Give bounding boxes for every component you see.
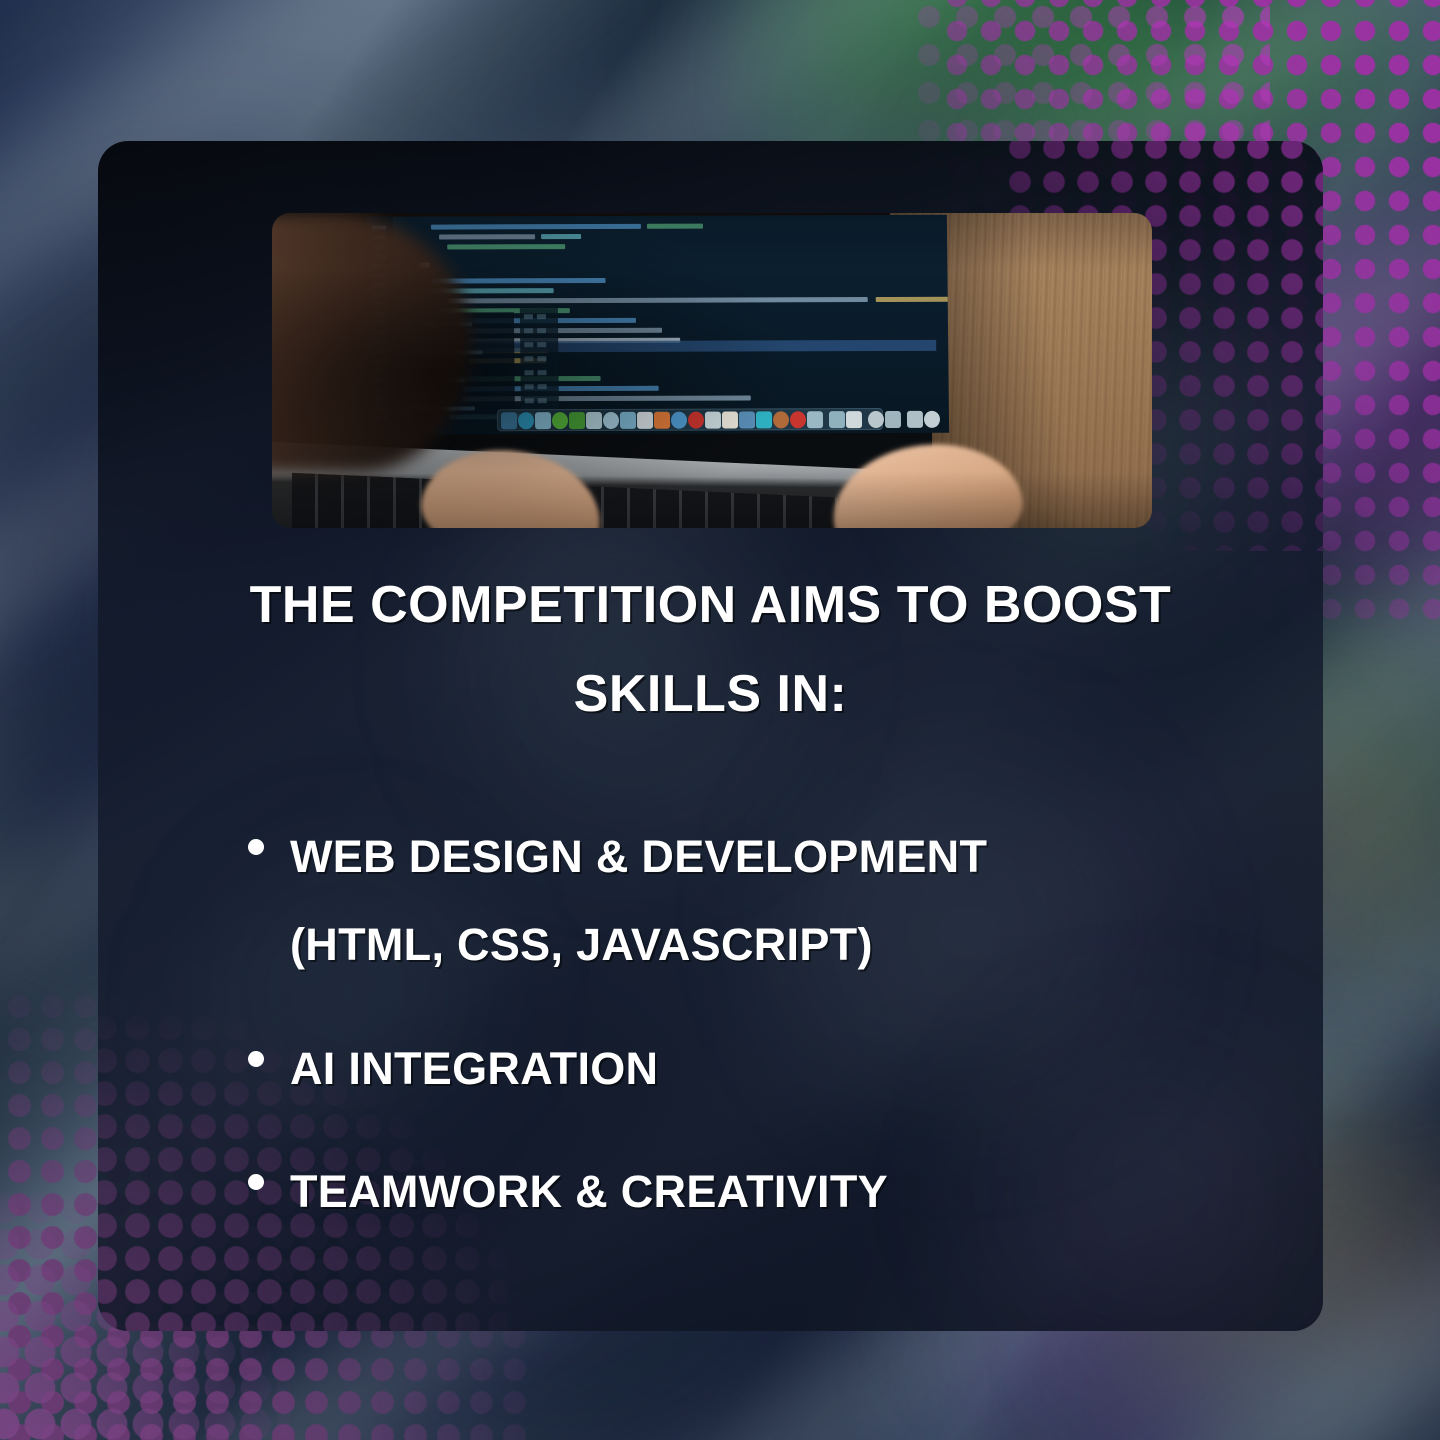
dock-icon[interactable] <box>705 411 721 428</box>
list-item-label: AI INTEGRATION <box>290 1025 658 1113</box>
dock-icon[interactable] <box>569 412 585 429</box>
content-card: THE COMPETITION AIMS TO BOOST SKILLS IN:… <box>98 141 1323 1331</box>
dock-icon[interactable] <box>654 411 670 428</box>
editor-code-line <box>448 297 868 303</box>
list-item-line-1: WEB DESIGN & DEVELOPMENT <box>290 831 987 882</box>
list-item-label: WEB DESIGN & DEVELOPMENT (HTML, CSS, JAV… <box>290 813 987 989</box>
dock-icon[interactable] <box>907 410 923 427</box>
laptop-keyboard <box>292 473 912 528</box>
dock-icon[interactable] <box>586 411 602 428</box>
macos-dock[interactable] <box>497 408 883 431</box>
dock-icon[interactable] <box>552 412 568 429</box>
dock-icon[interactable] <box>739 411 755 428</box>
editor-code-line <box>431 224 641 230</box>
editor-code-line <box>876 297 949 302</box>
dock-icon[interactable] <box>603 411 619 428</box>
editor-code-line <box>447 244 565 249</box>
editor-code-line <box>432 278 606 284</box>
bullet-dot-icon <box>248 1174 264 1190</box>
editor-code-line <box>541 234 581 239</box>
list-item-line-2: (HTML, CSS, JAVASCRIPT) <box>290 901 987 989</box>
dock-icon[interactable] <box>924 410 940 427</box>
list-item: TEAMWORK & CREATIVITY <box>248 1148 1228 1236</box>
laptop-photo <box>272 213 1152 528</box>
dock-icon[interactable] <box>671 411 687 428</box>
dock-icon[interactable] <box>807 411 823 428</box>
dock-icon[interactable] <box>518 412 534 429</box>
list-item: WEB DESIGN & DEVELOPMENT (HTML, CSS, JAV… <box>248 813 1228 989</box>
dock-icon[interactable] <box>773 411 789 428</box>
dock-icon[interactable] <box>501 412 517 429</box>
dock-icon[interactable] <box>885 410 901 427</box>
headline-line-2: SKILLS IN: <box>98 650 1323 739</box>
poster-canvas: THE COMPETITION AIMS TO BOOST SKILLS IN:… <box>0 0 1440 1440</box>
dock-icon[interactable] <box>620 411 636 428</box>
dock-icon[interactable] <box>829 411 845 428</box>
dock-icon[interactable] <box>688 411 704 428</box>
dock-icon[interactable] <box>722 411 738 428</box>
editor-line-numbers <box>367 215 947 217</box>
dock-icon[interactable] <box>868 410 884 427</box>
bullet-dot-icon <box>248 839 264 855</box>
dock-icon[interactable] <box>756 411 772 428</box>
page-title: THE COMPETITION AIMS TO BOOST SKILLS IN: <box>98 561 1323 740</box>
headline-line-1: THE COMPETITION AIMS TO BOOST <box>98 561 1323 650</box>
editor-minimap <box>520 308 559 424</box>
list-item-line-1: TEAMWORK & CREATIVITY <box>290 1166 888 1217</box>
editor-code-line <box>439 234 535 239</box>
list-item-line-1: AI INTEGRATION <box>290 1043 658 1094</box>
editor-code-content <box>367 215 947 217</box>
dock-icon[interactable] <box>637 411 653 428</box>
dock-icon[interactable] <box>535 412 551 429</box>
dock-icon[interactable] <box>790 411 806 428</box>
editor-code-line <box>647 224 703 229</box>
list-item: AI INTEGRATION <box>248 1025 1228 1113</box>
list-item-label: TEAMWORK & CREATIVITY <box>290 1148 888 1236</box>
dock-icon[interactable] <box>846 411 862 428</box>
skills-list: WEB DESIGN & DEVELOPMENT (HTML, CSS, JAV… <box>248 813 1228 1272</box>
bullet-dot-icon <box>248 1051 264 1067</box>
